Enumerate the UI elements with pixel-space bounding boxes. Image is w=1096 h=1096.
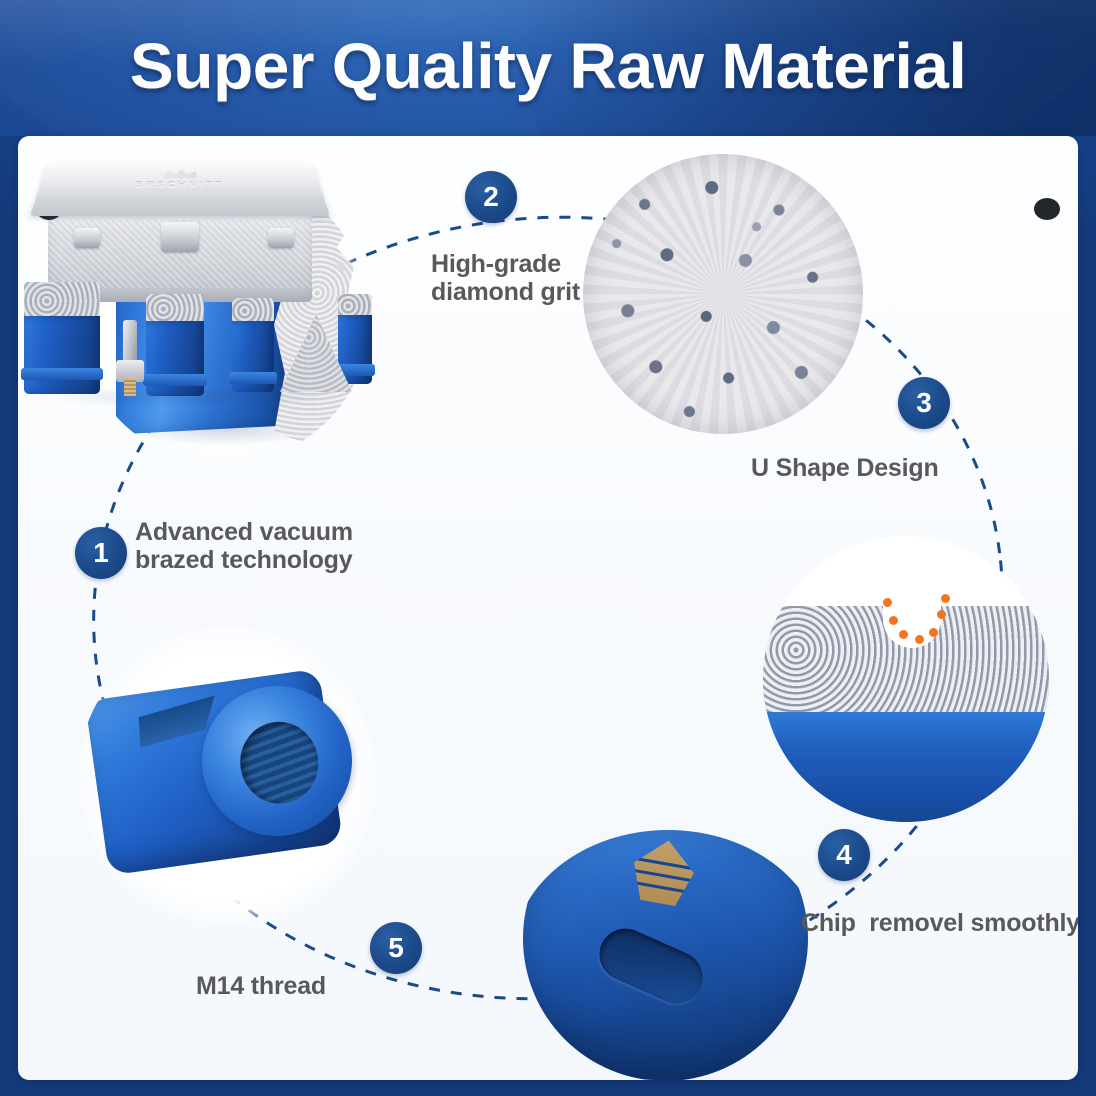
case-lid: BRSCHNITT [30,162,330,216]
content-panel: BRSCHNITT [18,136,1078,1080]
u-shape-blue-body [763,712,1049,822]
brand-decal [618,834,708,913]
u-dot [899,630,908,639]
drill-bit [24,282,100,394]
u-dot [941,594,950,603]
feature-badge-3[interactable]: 3 [898,377,950,429]
case-latch [268,228,294,248]
feature-label-3: U Shape Design [751,454,939,482]
feature-badge-1[interactable]: 1 [75,527,127,579]
feature-label-1: Advanced vacuum brazed technology [135,518,353,574]
u-dot [937,610,946,619]
feature-label-5: M14 thread [196,972,326,1000]
photo-u-shape [763,536,1049,822]
feature-badge-2[interactable]: 2 [465,171,517,223]
u-dot [889,616,898,625]
drill-bit [146,294,204,396]
m14-threaded-hole [235,717,324,809]
case-latch [161,222,199,252]
u-dot [929,628,938,637]
case-corner-pad [1034,198,1060,220]
case-latch [74,228,100,248]
chip-bit-body [523,830,808,1080]
photo-chip-removal [523,796,808,1080]
chip-removal-slot [591,920,711,1011]
photo-m14-thread [78,626,378,926]
u-dot [915,635,924,644]
m14-adapter [116,320,144,394]
feature-badge-4[interactable]: 4 [818,829,870,881]
photo-diamond-grit [583,154,863,434]
brand-logo-icon [163,169,196,178]
u-dot [883,598,892,607]
header-banner: Super Quality Raw Material [0,0,1096,136]
page-title: Super Quality Raw Material [0,30,1096,102]
drill-bit [232,298,274,392]
infographic-root: Super Quality Raw Material [0,0,1096,1096]
drill-bit [338,294,372,384]
feature-label-2: High-grade diamond grit [431,250,580,306]
feature-label-4: Chip removel smoothly [801,909,1078,937]
brand-name: BRSCHNITT [39,181,320,189]
feature-badge-5[interactable]: 5 [370,922,422,974]
